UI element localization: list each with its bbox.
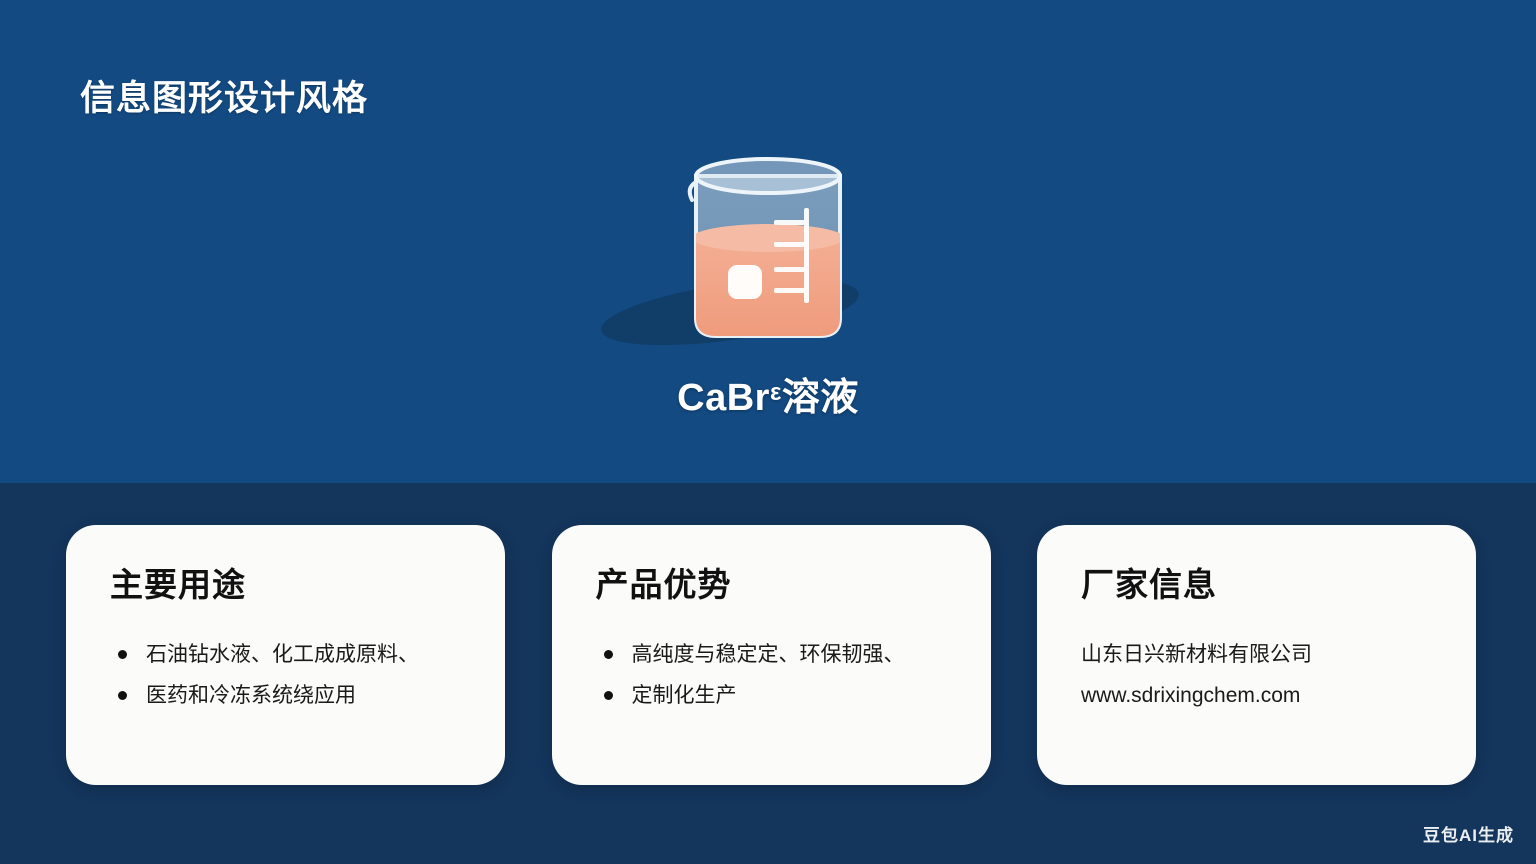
beaker-liquid [692,224,844,342]
card-row: 主要用途 石油钻水液、化工成成原料、 医药和冷冻系统绕应用 产品优势 高纯度与稳… [66,525,1476,785]
slide-canvas: 信息图形设计风格 [0,0,1536,864]
list-item-text: 石油钻水液、化工成成原料、 [146,643,419,666]
hero-caption: CaBrε溶液 [0,366,1536,421]
card-main-uses[interactable]: 主要用途 石油钻水液、化工成成原料、 医药和冷冻系统绕应用 [66,525,505,785]
list-item-text: 医药和冷冻系统绕应用 [146,684,356,707]
watermark-label: 豆包AI生成 [1423,821,1514,846]
beaker-icon [588,130,948,360]
card-bullet-list: 高纯度与稳定定、环保韧强、 定制化生产 [596,635,955,717]
list-item: 定制化生产 [596,676,955,717]
caption-subscript: ε [770,379,782,406]
card-title: 主要用途 [110,567,469,603]
company-name: 山东日兴新材料有限公司 [1081,635,1440,676]
card-bullet-list: 石油钻水液、化工成成原料、 医药和冷冻系统绕应用 [110,635,469,717]
bullet-dot-icon [604,650,613,659]
list-item: 高纯度与稳定定、环保韧强、 [596,635,955,676]
caption-tail: 溶液 [782,377,859,419]
bullet-dot-icon [118,691,127,700]
card-text-block: 山东日兴新材料有限公司 www.sdrixingchem.com [1081,635,1440,717]
caption-formula: CaBr [677,377,770,419]
card-manufacturer-info[interactable]: 厂家信息 山东日兴新材料有限公司 www.sdrixingchem.com [1037,525,1476,785]
card-title: 厂家信息 [1081,567,1440,603]
bullet-dot-icon [118,650,127,659]
list-item: 医药和冷冻系统绕应用 [110,676,469,717]
list-item-text: 定制化生产 [632,684,737,707]
bullet-dot-icon [604,691,613,700]
beaker-svg [588,130,948,360]
list-item-text: 高纯度与稳定定、环保韧强、 [632,643,905,666]
card-title: 产品优势 [596,567,955,603]
page-title: 信息图形设计风格 [80,79,368,119]
list-item: 石油钻水液、化工成成原料、 [110,635,469,676]
company-website[interactable]: www.sdrixingchem.com [1081,676,1440,717]
liquid-highlight-square [728,265,762,299]
beaker-rim [696,159,840,193]
card-product-advantages[interactable]: 产品优势 高纯度与稳定定、环保韧强、 定制化生产 [552,525,991,785]
